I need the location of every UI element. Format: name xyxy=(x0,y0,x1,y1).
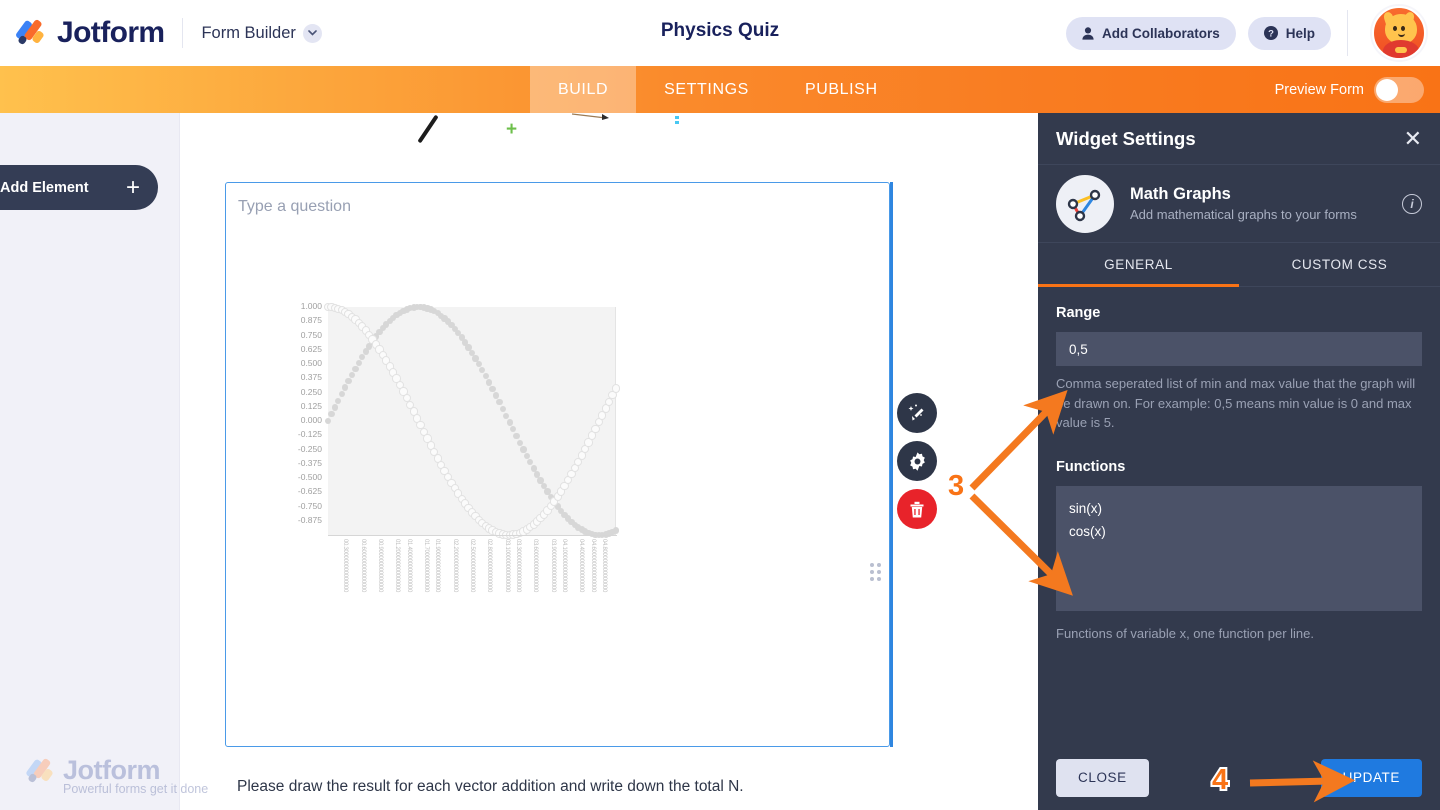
question-input[interactable]: Type a question xyxy=(238,198,351,216)
chart-x-tick-label: 02.200000000000000 xyxy=(452,539,458,592)
chart-y-tick-label: 0.000 xyxy=(282,415,322,425)
preview-form-toggle[interactable] xyxy=(1374,77,1424,103)
chart-x-tick-label: 03.300000000000000 xyxy=(515,539,521,592)
product-menu-label: Form Builder xyxy=(201,24,295,43)
tab-custom-css[interactable]: CUSTOM CSS xyxy=(1239,243,1440,286)
plus-marker-icon: + xyxy=(506,120,517,139)
chart-x-tick-label: 04.800000000000000 xyxy=(601,539,607,592)
chart-y-tick-label: 0.750 xyxy=(282,330,322,340)
person-icon xyxy=(1082,27,1094,40)
magic-wand-button[interactable] xyxy=(897,393,937,433)
brand-logo[interactable]: Jotform xyxy=(18,16,164,50)
chart-y-tick-label: -0.750 xyxy=(282,501,322,511)
delete-button[interactable] xyxy=(897,489,937,529)
panel-footer: CLOSE UPDATE xyxy=(1038,745,1440,810)
chevron-down-icon[interactable] xyxy=(303,24,322,43)
widget-info-row: Math Graphs Add mathematical graphs to y… xyxy=(1038,165,1440,243)
functions-textarea[interactable]: sin(x) cos(x) xyxy=(1056,486,1422,611)
chart-x-tick-label: 04.400000000000000 xyxy=(578,539,584,592)
preview-form-label: Preview Form xyxy=(1275,82,1364,98)
close-icon[interactable]: ✕ xyxy=(1404,128,1422,150)
tab-build[interactable]: BUILD xyxy=(530,66,636,113)
chart-data-point xyxy=(489,386,495,392)
close-button[interactable]: CLOSE xyxy=(1056,759,1149,797)
chart-x-tick-label: 00.600000000000000 xyxy=(360,539,366,592)
chart-y-tick-label: -0.250 xyxy=(282,444,322,454)
chart-data-point xyxy=(328,411,334,417)
form-question-text: Please draw the result for each vector a… xyxy=(237,778,744,796)
chart-y-tick-label: -0.375 xyxy=(282,458,322,468)
chart-data-point xyxy=(507,419,513,425)
wand-icon xyxy=(907,403,927,423)
main-nav: BUILD SETTINGS PUBLISH Preview Form xyxy=(0,66,1440,113)
chart-y-tick-label: -0.875 xyxy=(282,515,322,525)
add-element-button[interactable]: Add Element + xyxy=(0,165,158,210)
question-mark-icon: ? xyxy=(1264,26,1278,40)
range-label: Range xyxy=(1056,305,1422,321)
update-button[interactable]: UPDATE xyxy=(1321,759,1422,797)
panel-body: Range Comma seperated list of min and ma… xyxy=(1038,287,1440,661)
app-root: Jotform Form Builder Physics Quiz Add Co… xyxy=(0,0,1440,810)
chart-data-point xyxy=(345,378,351,384)
functions-help-text: Functions of variable x, one function pe… xyxy=(1056,624,1422,644)
nav-tab-list: BUILD SETTINGS PUBLISH xyxy=(530,66,906,113)
chart-x-tick-label: 01.200000000000000 xyxy=(394,539,400,592)
tab-general[interactable]: GENERAL xyxy=(1038,243,1239,286)
svg-text:?: ? xyxy=(1268,29,1274,40)
range-input[interactable] xyxy=(1056,332,1422,366)
chart-y-tick-label: -0.500 xyxy=(282,472,322,482)
add-element-label: Add Element xyxy=(0,180,89,196)
top-header: Jotform Form Builder Physics Quiz Add Co… xyxy=(0,0,1440,66)
chart-data-point xyxy=(513,433,519,439)
chart-x-tick-label: 01.900000000000000 xyxy=(434,539,440,592)
preview-form-control: Preview Form xyxy=(1275,66,1424,113)
chart-data-point xyxy=(332,404,338,410)
jotform-watermark: Jotform Powerful forms get it done xyxy=(28,755,208,796)
panel-header: Widget Settings ✕ xyxy=(1038,113,1440,165)
chart-x-tick-label: 03.600000000000000 xyxy=(532,539,538,592)
drawing-stroke xyxy=(417,115,438,144)
widget-description: Add mathematical graphs to your forms xyxy=(1130,207,1386,222)
widget-settings-panel: Widget Settings ✕ Math Graphs Add mathem… xyxy=(1038,113,1440,810)
chart-x-tick-label: 01.400000000000000 xyxy=(406,539,412,592)
add-collaborators-button[interactable]: Add Collaborators xyxy=(1066,17,1236,50)
gear-icon xyxy=(907,451,928,472)
chart-x-tick-label: 03.100000000000000 xyxy=(504,539,510,592)
avatar[interactable] xyxy=(1372,6,1426,60)
trash-icon xyxy=(908,500,926,519)
chart-data-point xyxy=(613,527,619,533)
chart-x-tick-label: 04.600000000000000 xyxy=(590,539,596,592)
chart-x-tick-label: 00.900000000000000 xyxy=(377,539,383,592)
chart-data-point xyxy=(496,399,502,405)
chart-data-point xyxy=(356,360,362,366)
math-graph-icon xyxy=(1056,175,1114,233)
drag-handle[interactable] xyxy=(870,563,881,578)
chart-x-tick-label: 00.300000000000000 xyxy=(342,539,348,592)
functions-label: Functions xyxy=(1056,459,1422,475)
chart-data-point xyxy=(486,379,492,385)
plus-icon: + xyxy=(126,176,140,200)
chart-x-tick-label: 02.800000000000000 xyxy=(486,539,492,592)
chart-data-point xyxy=(493,392,499,398)
chart-data-point xyxy=(612,384,620,392)
chart-x-tick-label: 02.500000000000000 xyxy=(469,539,475,592)
chart-y-tick-label: 0.500 xyxy=(282,358,322,368)
chart-data-point xyxy=(517,440,523,446)
question-card[interactable]: Type a question 1.0000.8750.7500.6250.50… xyxy=(225,182,890,747)
chart-y-tick-label: 1.000 xyxy=(282,301,322,311)
watermark-tagline: Powerful forms get it done xyxy=(63,782,208,796)
chart-y-tick-label: 0.250 xyxy=(282,387,322,397)
arrow-marker-icon xyxy=(572,113,612,123)
header-divider xyxy=(182,18,183,48)
left-sidebar xyxy=(0,113,180,810)
cursor-marker-icon xyxy=(675,116,679,126)
help-button[interactable]: ? Help xyxy=(1248,17,1331,50)
chart-x-tick-label: 01.700000000000000 xyxy=(423,539,429,592)
header-actions: Add Collaborators ? Help xyxy=(1066,0,1440,66)
math-graph-chart: 1.0000.8750.7500.6250.5000.3750.2500.125… xyxy=(286,303,656,643)
annotation-step-3: 3 xyxy=(948,472,964,501)
product-menu[interactable]: Form Builder xyxy=(201,24,321,43)
panel-tab-list: GENERAL CUSTOM CSS xyxy=(1038,243,1440,287)
panel-title: Widget Settings xyxy=(1056,128,1196,150)
chart-plot-area xyxy=(328,307,616,535)
chart-data-point xyxy=(342,384,348,390)
range-help-text: Comma seperated list of min and max valu… xyxy=(1056,374,1422,433)
chart-y-tick-label: 0.375 xyxy=(282,372,322,382)
selection-rail xyxy=(890,182,893,747)
avatar-divider xyxy=(1347,10,1348,56)
brand-wordmark: Jotform xyxy=(57,16,164,50)
help-label: Help xyxy=(1286,26,1315,41)
watermark-logo-icon xyxy=(28,758,56,784)
chart-x-axis xyxy=(328,535,617,536)
chart-y-tick-label: -0.625 xyxy=(282,486,322,496)
jotform-logo-icon xyxy=(18,19,48,47)
chart-y-tick-label: 0.875 xyxy=(282,315,322,325)
tab-settings[interactable]: SETTINGS xyxy=(636,66,777,113)
chart-y-tick-label: 0.625 xyxy=(282,344,322,354)
tab-publish[interactable]: PUBLISH xyxy=(777,66,906,113)
chart-y-tick-label: 0.125 xyxy=(282,401,322,411)
chart-data-point xyxy=(352,366,358,372)
annotation-step-4: 4 xyxy=(1212,766,1228,795)
chart-y-tick-label: -0.125 xyxy=(282,429,322,439)
info-icon[interactable]: i xyxy=(1402,194,1422,214)
gear-button[interactable] xyxy=(897,441,937,481)
chart-data-point xyxy=(520,446,526,452)
add-collaborators-label: Add Collaborators xyxy=(1102,26,1220,41)
form-canvas: + Type a question 1.0000.8750.7500.6250.… xyxy=(180,113,1035,810)
chart-x-tick-label: 03.900000000000000 xyxy=(550,539,556,592)
widget-name: Math Graphs xyxy=(1130,185,1386,204)
chart-x-tick-label: 04.100000000000000 xyxy=(561,539,567,592)
